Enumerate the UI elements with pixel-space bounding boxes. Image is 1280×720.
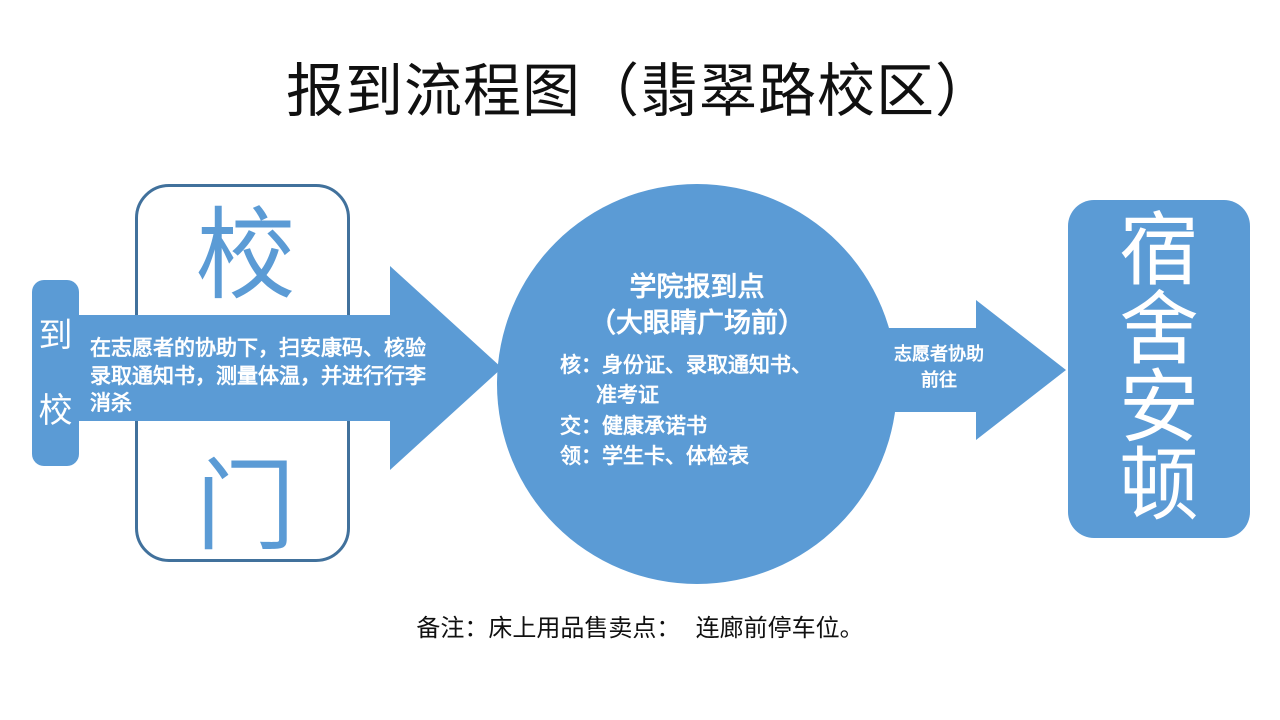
dorm-settle-box[interactable]: 宿 舍 安 顿 (1068, 200, 1250, 538)
dorm-settle-label-line2: 舍 (1119, 291, 1199, 369)
footer-note: 备注：床上用品售卖点： 连廊前停车位。 (0, 608, 1280, 643)
dorm-settle-label-line4: 顿 (1119, 447, 1199, 525)
slide-canvas: 报到流程图（翡翠路校区） 校 门 在志愿者的协助下，扫安康码、核验录取通知书，测… (0, 0, 1280, 720)
list-item: 领：学生卡、体检表 (560, 441, 880, 471)
list-item: 准考证 (560, 380, 880, 410)
college-checkin-heading-line1: 学院报到点 (497, 270, 897, 306)
page-title: 报到流程图（翡翠路校区） (0, 58, 1280, 125)
dorm-settle-label: 宿 舍 安 顿 (1119, 212, 1199, 526)
college-checkin-heading-line2: （大眼睛广场前） (497, 306, 897, 342)
arrow-checkin-to-dorm-label: 志愿者协助前往 (893, 342, 985, 393)
dorm-settle-label-line1: 宿 (1119, 212, 1199, 290)
arrow-gate-to-checkin-label: 在志愿者的协助下，扫安康码、核验录取通知书，测量体温，并进行行李消杀 (90, 334, 442, 417)
list-item: 交：健康承诺书 (560, 411, 880, 441)
college-checkin-heading: 学院报到点 （大眼睛广场前） (497, 270, 897, 341)
dorm-settle-label-line3: 安 (1119, 369, 1199, 447)
arrive-tab-line1: 到 (39, 319, 73, 353)
arrive-tab-line2: 校 (39, 394, 73, 428)
arrive-at-school-tab[interactable]: 到 校 (32, 280, 79, 466)
college-checkin-list: 核：身份证、录取通知书、 准考证 交：健康承诺书 领：学生卡、体检表 (560, 350, 880, 472)
list-item: 核：身份证、录取通知书、 (560, 350, 880, 380)
